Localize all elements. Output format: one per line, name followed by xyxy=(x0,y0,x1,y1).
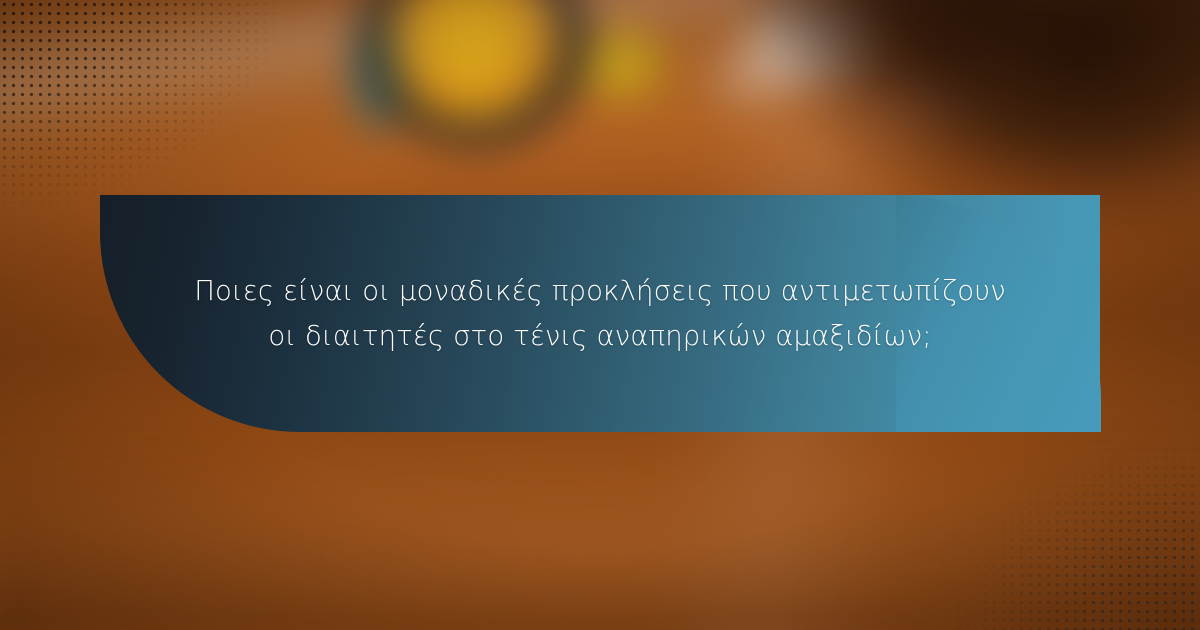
question-line-2: οι διαιτητές στο τένις αναπηρικών αμαξιδ… xyxy=(268,314,931,359)
question-banner: Ποιες είναι οι μοναδικές προκλήσεις που … xyxy=(100,195,1100,432)
halftone-dots-bottom-right xyxy=(900,400,1200,630)
question-line-1: Ποιες είναι οι μοναδικές προκλήσεις που … xyxy=(194,269,1006,314)
share-card: Ποιες είναι οι μοναδικές προκλήσεις που … xyxy=(0,0,1200,630)
question-banner-content: Ποιες είναι οι μοναδικές προκλήσεις που … xyxy=(100,195,1100,432)
